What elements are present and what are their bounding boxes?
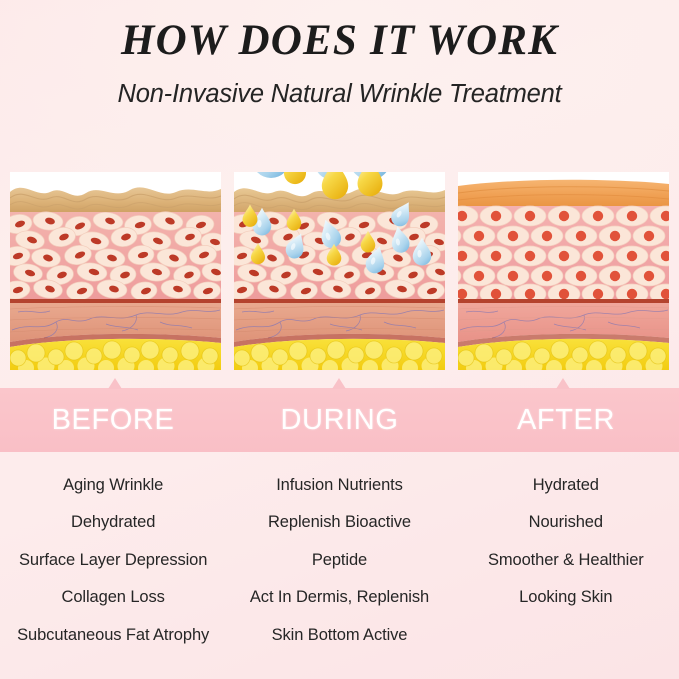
stage-label-before: BEFORE [0,388,226,452]
list-item: Nourished [453,504,679,542]
dermis-cells-irregular [10,210,221,302]
skin-diagram-before-svg [10,172,221,370]
skin-cross-section-absorbing-illustration [234,172,445,370]
stage-label-during: DURING [226,388,453,452]
dermis-cells-ordered [458,206,669,304]
falling-droplets [234,172,445,190]
stage-detail-columns: Aging Wrinkle Dehydrated Surface Layer D… [0,466,679,656]
stage-label-band: BEFORE DURING AFTER [0,388,679,452]
column-before: Aging Wrinkle Dehydrated Surface Layer D… [0,466,226,656]
skin-diagram-after-svg [458,172,669,370]
serum-droplet-middle [322,172,348,199]
list-item: Surface Layer Depression [0,541,226,579]
list-item: Peptide [226,541,452,579]
skin-diagram-during-svg [234,172,445,370]
skin-cross-section-restored-illustration [458,172,669,370]
list-item: Hydrated [453,466,679,504]
list-item: Dehydrated [0,504,226,542]
page-title: HOW DOES IT WORK [0,18,679,63]
stage-label-after: AFTER [453,388,679,452]
list-item: Aging Wrinkle [0,466,226,504]
list-item: Looking Skin [453,579,679,617]
list-item: Act In Dermis, Replenish [226,579,452,617]
serum-droplet-right [358,172,383,196]
list-item: Infusion Nutrients [226,466,452,504]
serum-droplet-left [284,172,306,184]
header: HOW DOES IT WORK Non-Invasive Natural Wr… [0,0,679,108]
panel-during [234,172,445,370]
column-during: Infusion Nutrients Replenish Bioactive P… [226,466,452,656]
list-item: Smoother & Healthier [453,541,679,579]
panel-before [10,172,221,370]
skin-cross-section-aged-illustration [10,172,221,370]
infographic-page: HOW DOES IT WORK Non-Invasive Natural Wr… [0,0,679,679]
panel-after [458,172,669,370]
list-item: Replenish Bioactive [226,504,452,542]
list-item: Subcutaneous Fat Atrophy [0,616,226,654]
column-after: Hydrated Nourished Smoother & Healthier … [453,466,679,656]
page-subtitle: Non-Invasive Natural Wrinkle Treatment [0,80,679,108]
illustration-panels [0,172,679,372]
list-item: Skin Bottom Active [226,616,452,654]
list-item: Collagen Loss [0,579,226,617]
